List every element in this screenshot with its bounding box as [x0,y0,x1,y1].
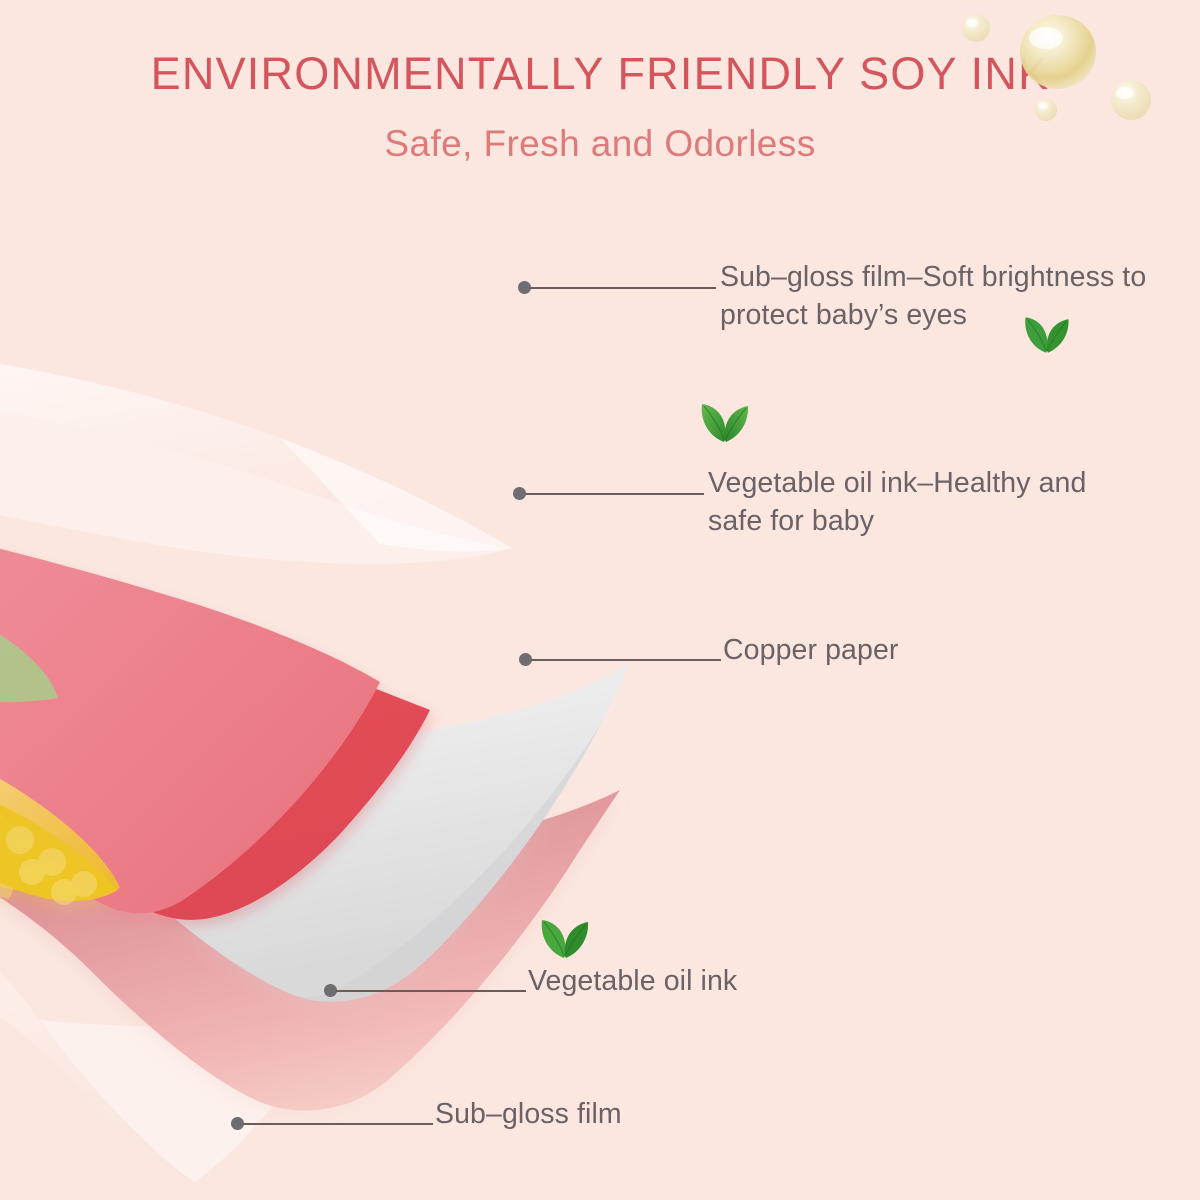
callout-leader-line [243,1123,433,1125]
callout-leader-line [525,493,704,495]
callout-label: Sub–gloss film–Soft brightness to protec… [720,259,1180,335]
callout-label: Vegetable oil ink [528,963,858,1001]
callout-label: Copper paper [723,632,1053,670]
page-subtitle: Safe, Fresh and Odorless [0,97,1200,165]
leaf-icon [694,392,756,454]
layer-stack-illustration [0,150,700,1200]
header-block: ENVIRONMENTALLY FRIENDLY SOY INK Safe, F… [0,0,1200,165]
infographic-poster: ENVIRONMENTALLY FRIENDLY SOY INK Safe, F… [0,0,1200,1200]
callout-leader-line [530,287,716,289]
layer-stack-svg [0,150,700,1200]
callout-label: Vegetable oil ink–Healthy and safe for b… [708,465,1128,541]
page-title: ENVIRONMENTALLY FRIENDLY SOY INK [0,0,1200,97]
callout-label: Sub–gloss film [435,1096,765,1134]
callout-leader-line [336,990,526,992]
callout-leader-line [531,659,721,661]
layer-top-sub-gloss-film [0,336,512,564]
